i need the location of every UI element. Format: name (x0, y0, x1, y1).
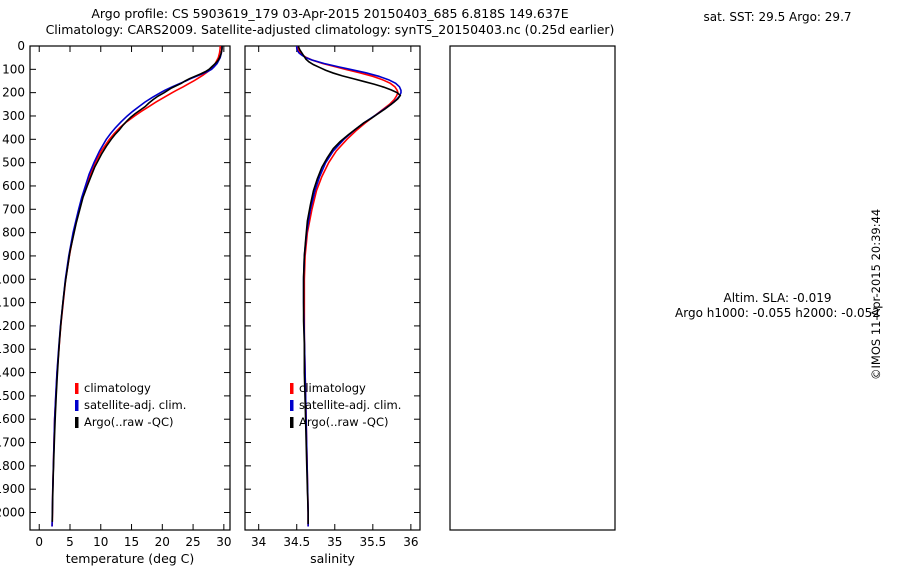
y-tick-label: 100 (2, 62, 25, 76)
y-tick-label: 1000 (0, 272, 25, 286)
legend-swatch (75, 400, 79, 411)
copyright-credit: ©IMOS 11-Apr-2015 20:39:44 (869, 200, 887, 380)
plot-frame (245, 46, 420, 530)
sst-map-title-text: sat. SST: 29.5 Argo: 29.7 (655, 10, 900, 25)
sst-map-title: sat. SST: 29.5 Argo: 29.7 (655, 10, 900, 25)
sla-map-title-line-2: Argo h1000: -0.055 h2000: -0.052 (655, 306, 900, 321)
x-tick-label: 5 (66, 535, 74, 549)
x-tick-label: 36 (403, 535, 418, 549)
legend-swatch (75, 383, 79, 394)
sla-map (655, 325, 900, 575)
legend-label: climatology (299, 381, 366, 395)
legend-label: climatology (84, 381, 151, 395)
x-tick-label: 34.5 (283, 535, 310, 549)
profile-curve (52, 46, 222, 527)
y-tick-label: 1500 (0, 389, 25, 403)
profile-curve (298, 46, 400, 524)
profile-panels: 0100200300400500600700800900100011001200… (0, 36, 660, 580)
x-tick-label: 10 (93, 535, 108, 549)
y-tick-label: 800 (2, 226, 25, 240)
y-tick-label: 1100 (0, 296, 25, 310)
legend-swatch (290, 400, 294, 411)
plot-frame (450, 46, 615, 530)
x-tick-label: 15 (124, 535, 139, 549)
y-tick-label: 1800 (0, 459, 25, 473)
x-tick-label: 25 (185, 535, 200, 549)
profile-curve (298, 46, 398, 527)
difference-profile (450, 46, 615, 530)
figure-title: Argo profile: CS 5903619_179 03-Apr-2015… (0, 6, 660, 38)
y-tick-label: 500 (2, 156, 25, 170)
y-tick-label: 2000 (0, 506, 25, 520)
sla-map-title-line-1: Altim. SLA: -0.019 (655, 291, 900, 306)
legend-swatch (75, 417, 79, 428)
x-axis-title: temperature (deg C) (66, 551, 195, 566)
profile-curve (297, 46, 401, 527)
x-tick-label: 0 (35, 535, 43, 549)
profile-curve (52, 46, 220, 527)
profile-curve (52, 46, 222, 522)
salinity-profile: 3434.53535.536salinityclimatologysatelli… (245, 46, 420, 566)
title-line-1: Argo profile: CS 5903619_179 03-Apr-2015… (0, 6, 660, 22)
y-tick-label: 1400 (0, 366, 25, 380)
y-tick-label: 1700 (0, 436, 25, 450)
y-tick-label: 900 (2, 249, 25, 263)
y-tick-label: 400 (2, 132, 25, 146)
legend-label: satellite-adj. clim. (299, 398, 401, 412)
y-tick-label: 700 (2, 202, 25, 216)
sst-map (655, 40, 900, 290)
x-tick-label: 35.5 (359, 535, 386, 549)
sla-map-title: Altim. SLA: -0.019 Argo h1000: -0.055 h2… (655, 291, 900, 321)
y-tick-label: 200 (2, 86, 25, 100)
y-tick-label: 1300 (0, 342, 25, 356)
legend-label: Argo(..raw -QC) (84, 415, 174, 429)
y-tick-label: 0 (17, 39, 25, 53)
legend-label: Argo(..raw -QC) (299, 415, 389, 429)
x-axis-title: salinity (310, 551, 355, 566)
x-tick-label: 20 (155, 535, 170, 549)
x-tick-label: 30 (216, 535, 231, 549)
temperature-profile: 0100200300400500600700800900100011001200… (0, 39, 231, 566)
y-tick-label: 300 (2, 109, 25, 123)
legend-label: satellite-adj. clim. (84, 398, 186, 412)
y-tick-label: 1600 (0, 412, 25, 426)
x-tick-label: 35 (327, 535, 342, 549)
y-tick-label: 1200 (0, 319, 25, 333)
x-tick-label: 34 (251, 535, 266, 549)
y-tick-label: 600 (2, 179, 25, 193)
legend-swatch (290, 417, 294, 428)
y-tick-label: 1900 (0, 482, 25, 496)
legend-swatch (290, 383, 294, 394)
